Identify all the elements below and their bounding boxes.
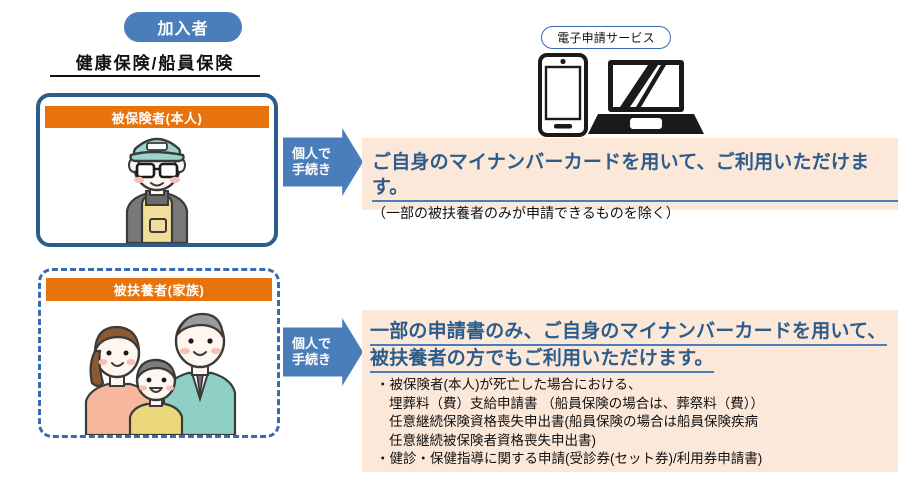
insured-panel-heading: ご自身のマイナンバーカードを用いて、ご利用いただけます。 [372, 150, 898, 202]
smartphone-icon [540, 55, 586, 135]
list-item: ・健診・保健指導に関する申請(受診券(セット券)/利用券申請書) [376, 450, 898, 469]
dependent-panel-heading-line2: 被扶養者の方でもご利用いただけます。 [370, 346, 714, 373]
list-item: 任意継続保険資格喪失申出書(船員保険の場合は船員保険疾病 [376, 413, 898, 432]
dependent-card-header: 被扶養者(家族) [46, 278, 272, 301]
laptop-icon [588, 60, 704, 134]
list-item: 任意継続被保険者資格喪失申出書) [376, 432, 898, 451]
dependent-info-panel: 一部の申請書のみ、ご自身のマイナンバーカードを用いて、 被扶養者の方でもご利用い… [362, 310, 898, 472]
arrow-label-line2: 手続き [292, 352, 331, 368]
dependent-panel-heading-line1: 一部の申請書のみ、ご自身のマイナンバーカードを用いて、 [370, 319, 887, 346]
arrow-label-line1: 個人で [292, 146, 331, 162]
insured-panel-subtext: （一部の被扶養者のみが申請できるものを除く） [362, 202, 898, 223]
eservice-pill: 電子申請サービス [541, 26, 671, 49]
device-icons-group [520, 52, 710, 138]
insured-card-header: 被保険者(本人) [45, 106, 269, 128]
arrow-label-line2: 手続き [292, 162, 331, 178]
insured-card: 被保険者(本人) [36, 93, 278, 247]
diagram-canvas: 加入者 健康保険/船員保険 電子申請サービス 被保険者(本人) [0, 0, 922, 499]
insured-info-panel: ご自身のマイナンバーカードを用いて、ご利用いただけます。 （一部の被扶養者のみが… [362, 138, 898, 210]
family-illustration [41, 303, 277, 435]
arrow-label-line1: 個人で [292, 336, 331, 352]
dependent-card: 被扶養者(家族) [38, 268, 280, 438]
arrow-individual-procedure-2: 個人で 手続き [283, 318, 363, 386]
dependent-panel-bullet-list: ・被保険者(本人)が死亡した場合における、 埋葬料（費）支給申請書 （船員保険の… [362, 376, 898, 469]
list-item: ・被保険者(本人)が死亡した場合における、 [376, 376, 898, 395]
arrow-individual-procedure-1: 個人で 手続き [283, 128, 363, 196]
insurance-title: 健康保険/船員保険 [50, 54, 260, 77]
worker-person-illustration [40, 129, 274, 243]
member-pill: 加入者 [124, 12, 242, 42]
list-item: 埋葬料（費）支給申請書 （船員保険の場合は、葬祭料（費）） [376, 395, 898, 414]
